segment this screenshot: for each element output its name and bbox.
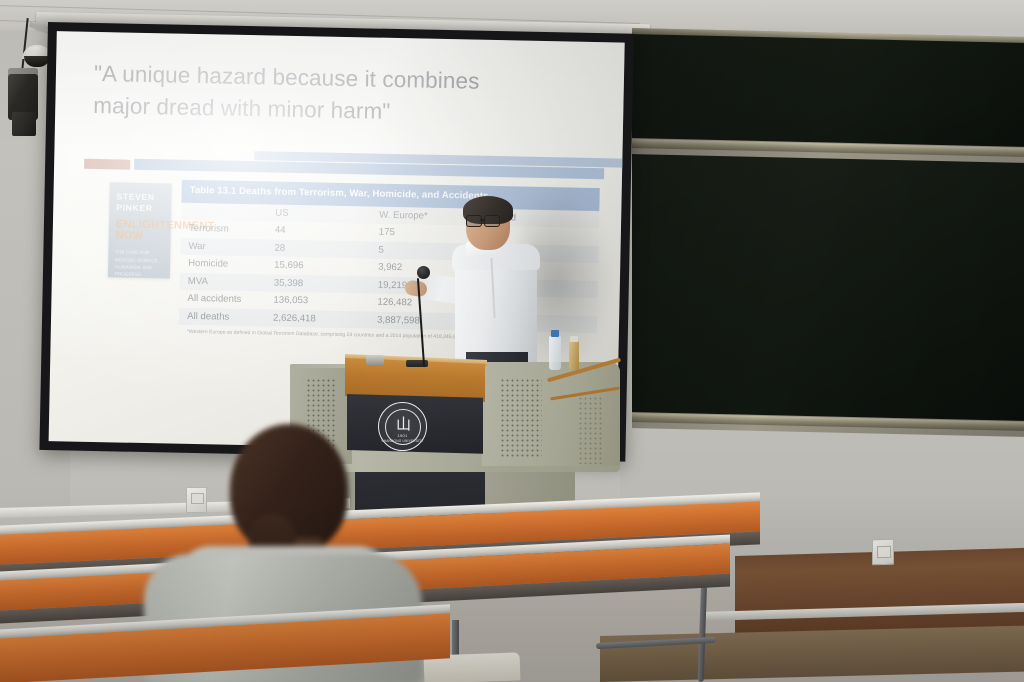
book-title: ENLIGHTENMENT NOW [116,220,165,243]
speaker-grille-right [500,378,542,458]
chalkboard-panel-upper [632,34,1024,147]
row-label: All accidents [187,293,273,306]
column-header-0 [189,211,275,213]
row-label: Homicide [188,258,274,271]
cell-us: 136,053 [273,295,377,308]
book-subtitle: THE CASE FOR REASON, SCIENCE, HUMANISM, … [115,249,165,279]
water-bottle [549,336,561,370]
power-outlet-face[interactable] [877,546,891,558]
cell-us: 28 [274,242,378,255]
power-outlet[interactable] [872,539,894,566]
eyeglass-lens-right [484,215,500,227]
column-header-1: US [275,208,379,221]
cell-us: 35,398 [274,277,378,290]
amber-bottle [569,341,579,370]
water-bottle-cap [551,330,559,337]
lecture-hall-photo: "A unique hazard because it combines maj… [0,0,1024,682]
book-author-line2: PINKER [116,202,165,214]
accent-bar-rose [84,159,130,170]
control-unit[interactable] [366,355,384,365]
row-label: MVA [188,276,274,289]
amber-bottle-cap [570,336,578,342]
book-cover-thumbnail: STEVEN PINKER ENLIGHTENMENT NOW THE CASE… [108,182,172,278]
cell-us: 44 [275,225,379,238]
microphone-icon [417,266,430,279]
chalkboard-panel-lower [632,154,1024,421]
cell-us: 2,626,418 [273,312,377,325]
eyeglasses-icon [466,215,500,226]
row-label: War [188,241,274,254]
floor [600,626,1024,682]
row-label: All deaths [187,311,273,324]
chalkboard [632,28,1024,437]
slide-title: "A unique hazard because it combines maj… [93,58,524,130]
eyeglass-lens-left [466,215,482,227]
speaker-grille-far [578,396,602,464]
book-author-line1: STEVEN [116,191,165,203]
row-label: Terrorism [189,223,275,236]
hanging-device-lower [12,112,36,136]
cell-us: 15,696 [274,260,378,273]
